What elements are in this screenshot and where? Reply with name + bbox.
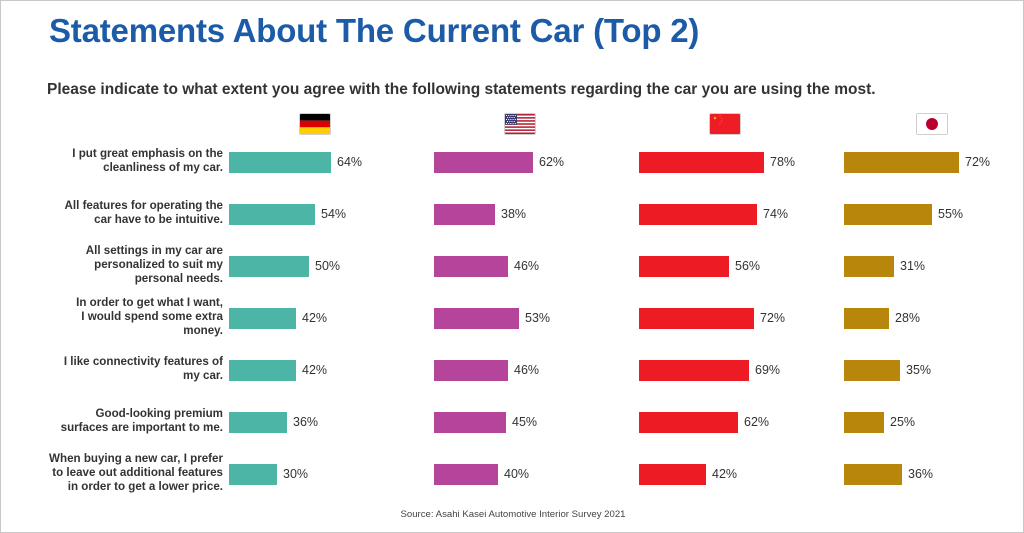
row-label-line: I would spend some extra bbox=[15, 310, 223, 324]
chart-page: Statements About The Current Car (Top 2)… bbox=[0, 0, 1024, 533]
row-label-line: surfaces are important to me. bbox=[15, 421, 223, 435]
table-row: I put great emphasis on the cleanliness … bbox=[1, 139, 1024, 189]
row-label-line: Good-looking premium bbox=[15, 407, 223, 421]
source-note: Source: Asahi Kasei Automotive Interior … bbox=[1, 509, 1024, 520]
chart-subtitle: Please indicate to what extent you agree… bbox=[47, 81, 876, 99]
table-row: In order to get what I want, I would spe… bbox=[1, 295, 1024, 345]
row-label-6: When buying a new car, I prefer to leave… bbox=[15, 452, 223, 494]
row-label-0: I put great emphasis on the cleanliness … bbox=[15, 147, 223, 175]
row-label-line: cleanliness of my car. bbox=[15, 161, 223, 175]
table-row: All features for operating the car have … bbox=[1, 191, 1024, 241]
row-label-line: All features for operating the bbox=[15, 199, 223, 213]
row-label-line: in order to get a lower price. bbox=[15, 480, 223, 494]
flag-usa-icon bbox=[504, 113, 536, 135]
row-label-line: In order to get what I want, bbox=[15, 296, 223, 310]
table-row: All settings in my car are personalized … bbox=[1, 243, 1024, 293]
row-label-line: I put great emphasis on the bbox=[15, 147, 223, 161]
row-label-5: Good-looking premium surfaces are import… bbox=[15, 407, 223, 435]
row-label-line: personal needs. bbox=[15, 272, 223, 286]
row-label-line: to leave out additional features bbox=[15, 466, 223, 480]
table-row: I like connectivity features of my car. … bbox=[1, 347, 1024, 397]
row-label-2: All settings in my car are personalized … bbox=[15, 244, 223, 286]
row-label-1: All features for operating the car have … bbox=[15, 199, 223, 227]
table-row: Good-looking premium surfaces are import… bbox=[1, 399, 1024, 449]
bar-chart-plot-area: I put great emphasis on the cleanliness … bbox=[1, 139, 1024, 494]
flag-japan-icon bbox=[916, 113, 948, 135]
page-title: Statements About The Current Car (Top 2) bbox=[49, 12, 699, 50]
table-row: When buying a new car, I prefer to leave… bbox=[1, 451, 1024, 501]
row-label-line: money. bbox=[15, 324, 223, 338]
row-label-3: In order to get what I want, I would spe… bbox=[15, 296, 223, 338]
row-label-line: I like connectivity features of bbox=[15, 355, 223, 369]
country-flag-legend bbox=[1, 111, 1024, 139]
row-label-line: car have to be intuitive. bbox=[15, 213, 223, 227]
row-label-line: All settings in my car are bbox=[15, 244, 223, 258]
row-label-line: personalized to suit my bbox=[15, 258, 223, 272]
flag-china-icon bbox=[709, 113, 741, 135]
flag-germany-icon bbox=[299, 113, 331, 135]
row-label-line: When buying a new car, I prefer bbox=[15, 452, 223, 466]
row-label-4: I like connectivity features of my car. bbox=[15, 355, 223, 383]
row-label-line: my car. bbox=[15, 369, 223, 383]
